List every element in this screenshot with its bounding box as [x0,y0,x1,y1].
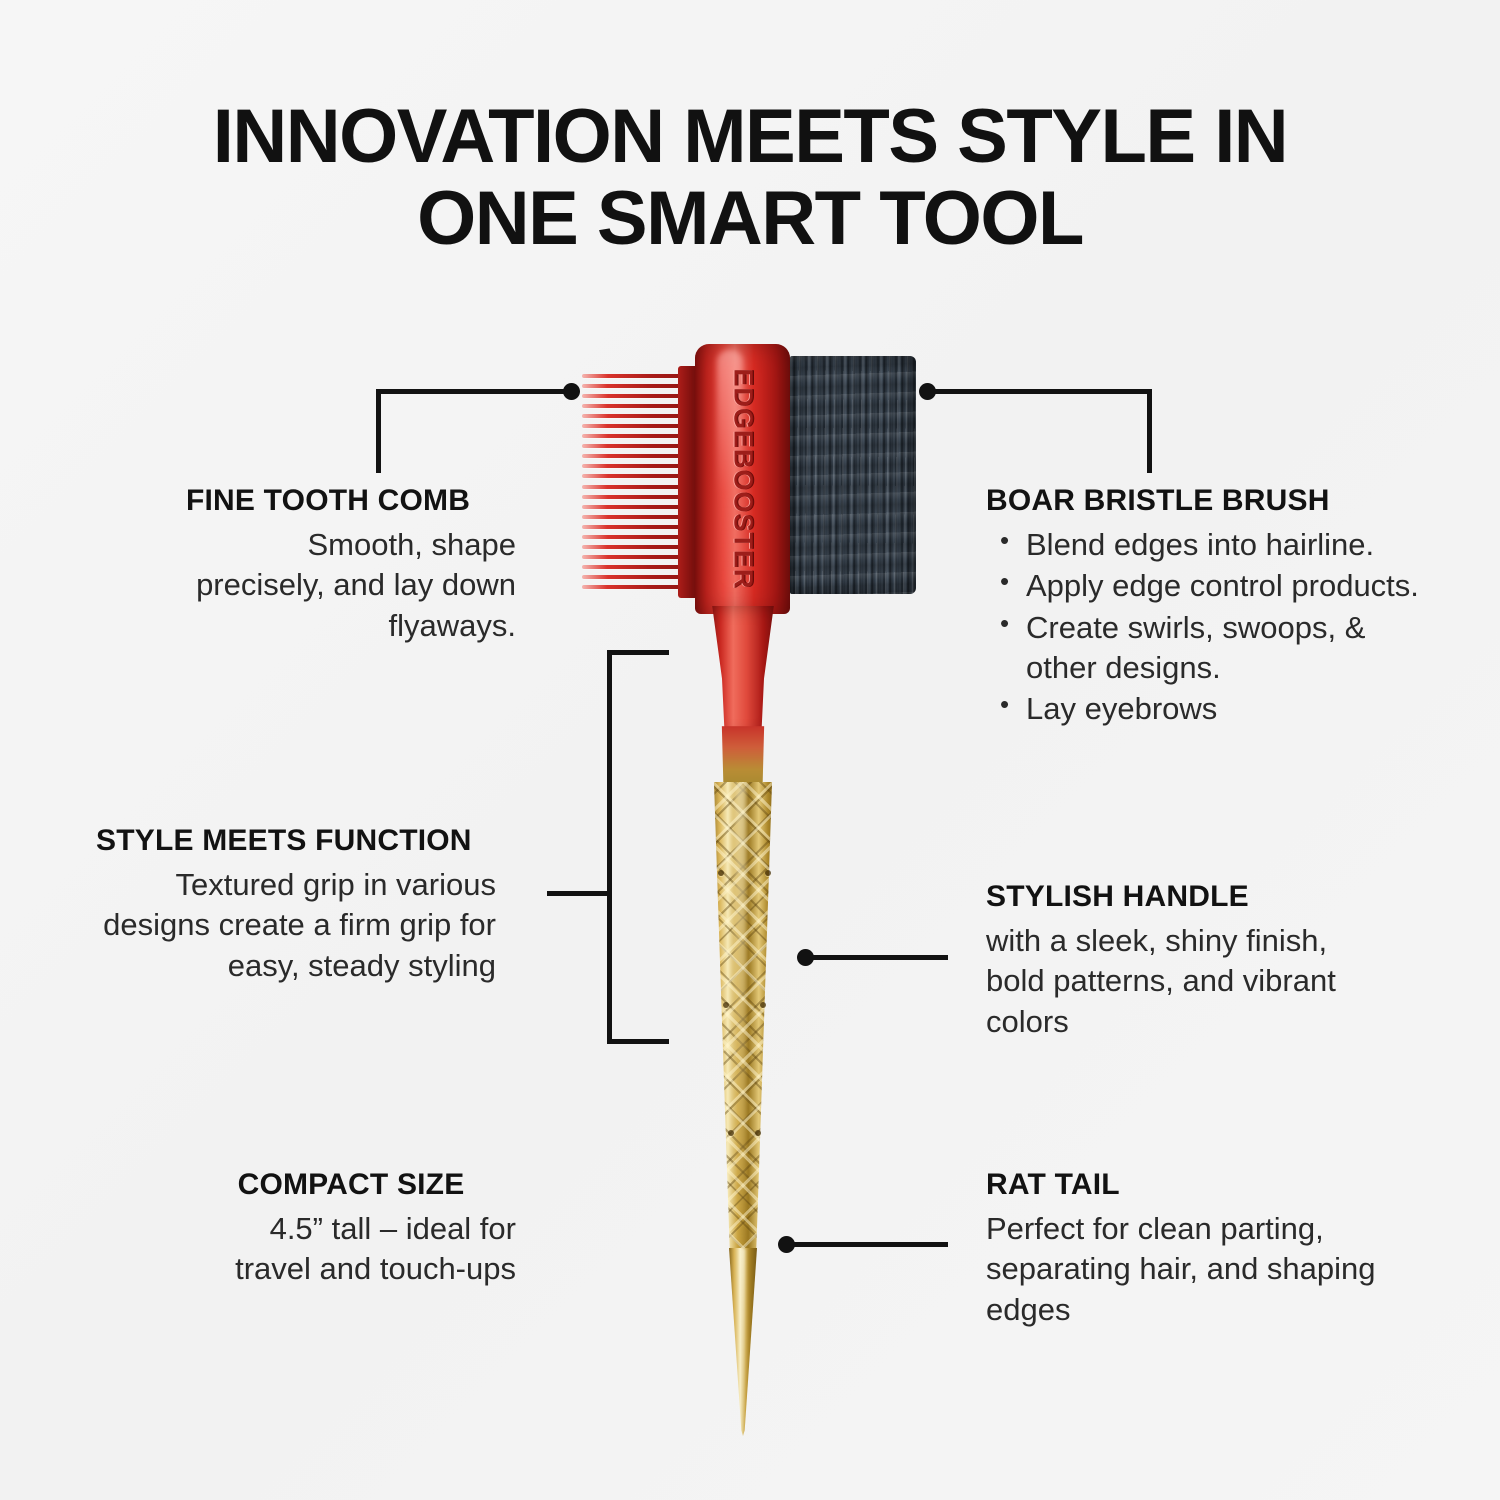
page-title: INNOVATION MEETS STYLE IN ONE SMART TOOL [130,96,1370,260]
callout-body: Smooth, shape precisely, and lay down fl… [186,525,516,646]
title-line-2: ONE SMART TOOL [130,178,1370,260]
callout-style-meets-function: STYLE MEETS FUNCTION Textured grip in va… [96,824,496,986]
handle-rivet [718,870,724,876]
product-image-edgebooster-brush: EDGEBOOSTER [560,330,960,1440]
brush-head-body: EDGEBOOSTER [695,344,790,614]
callout-rat-tail: RAT TAIL Perfect for clean parting, sepa… [986,1168,1386,1330]
callout-heading: STYLISH HANDLE [986,880,1386,914]
callout-boar-bristle-brush: BOAR BRISTLE BRUSH Blend edges into hair… [986,484,1426,730]
callout-heading: BOAR BRISTLE BRUSH [986,484,1426,518]
callout-heading: RAT TAIL [986,1168,1386,1202]
handle-rivet [755,1130,761,1136]
boar-bristle-part [790,356,916,594]
handle-neck [708,606,778,738]
rat-tail-point [729,1248,757,1436]
callout-bullet-list: Blend edges into hairline. Apply edge co… [986,525,1426,729]
callout-body: Textured grip in various designs create … [96,865,496,986]
handle-rivet [723,1002,729,1008]
callout-compact-size: COMPACT SIZE 4.5” tall – ideal for trave… [186,1168,516,1290]
list-item: Blend edges into hairline. [986,525,1426,565]
handle-rivet [765,870,771,876]
title-line-1: INNOVATION MEETS STYLE IN [213,94,1287,179]
callout-body: Perfect for clean parting, separating ha… [986,1209,1386,1330]
handle-rivet [728,1130,734,1136]
handle-rivet [760,1002,766,1008]
callout-heading: COMPACT SIZE [186,1168,516,1202]
brand-logo-text: EDGEBOOSTER [727,368,758,589]
infographic-canvas: INNOVATION MEETS STYLE IN ONE SMART TOOL [0,0,1500,1500]
list-item: Apply edge control products. [986,566,1426,606]
callout-fine-tooth-comb: FINE TOOTH COMB Smooth, shape precisely,… [186,484,516,646]
callout-stylish-handle: STYLISH HANDLE with a sleek, shiny finis… [986,880,1386,1042]
callout-heading: FINE TOOTH COMB [186,484,516,518]
callout-body: with a sleek, shiny finish, bold pattern… [986,921,1386,1042]
callout-body: 4.5” tall – ideal for travel and touch-u… [186,1209,516,1290]
textured-gold-handle [710,782,776,1252]
list-item: Lay eyebrows [986,689,1426,729]
callout-heading: STYLE MEETS FUNCTION [96,824,496,858]
list-item: Create swirls, swoops, & other designs. [986,608,1426,689]
